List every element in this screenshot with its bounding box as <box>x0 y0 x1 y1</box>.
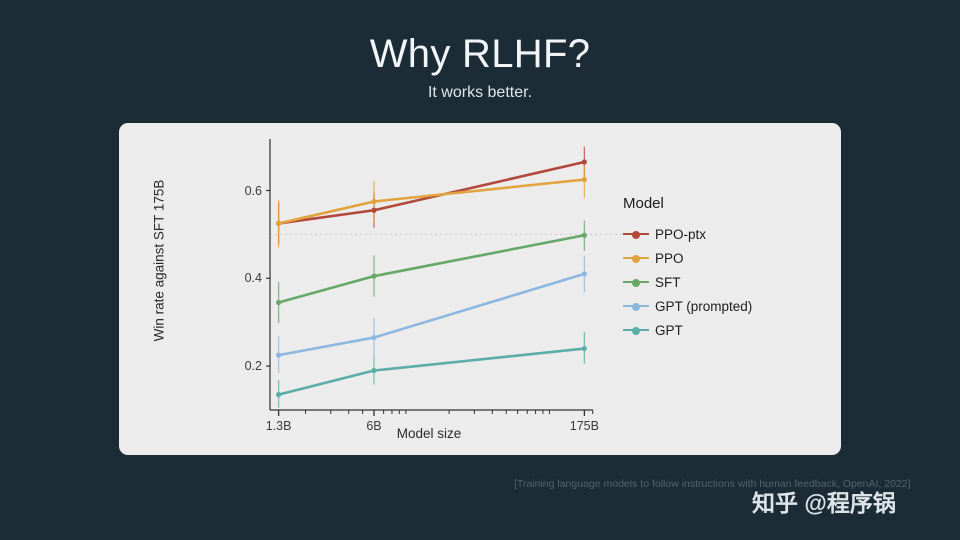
legend-swatch-icon <box>623 323 649 337</box>
chart-legend: Model PPO-ptxPPOSFTGPT (prompted)GPT <box>623 195 752 342</box>
legend-swatch-icon <box>623 251 649 265</box>
legend-item-label: GPT (prompted) <box>655 299 752 314</box>
legend-item-label: SFT <box>655 275 681 290</box>
legend-item-label: GPT <box>655 323 683 338</box>
x-tick-label: 1.3B <box>266 419 292 433</box>
y-tick-label: 0.4 <box>245 271 262 285</box>
legend-item-gpt-prompted[interactable]: GPT (prompted) <box>623 294 752 318</box>
x-tick-label: 6B <box>366 419 381 433</box>
legend-swatch-icon <box>623 299 649 313</box>
legend-item-label: PPO <box>655 251 684 266</box>
legend-swatch-icon <box>623 275 649 289</box>
y-tick-label: 0.6 <box>245 184 262 198</box>
legend-items: PPO-ptxPPOSFTGPT (prompted)GPT <box>623 222 752 342</box>
legend-item-ppo-ptx[interactable]: PPO-ptx <box>623 222 752 246</box>
legend-title: Model <box>623 195 752 212</box>
x-axis-label: Model size <box>259 426 599 441</box>
page-subtitle: It works better. <box>0 84 960 102</box>
watermark: 知乎 @程序锅 <box>752 484 896 518</box>
slide: Why RLHF? It works better. Win rate agai… <box>0 0 960 540</box>
y-axis-label: Win rate against SFT 175B <box>152 151 167 371</box>
legend-item-gpt[interactable]: GPT <box>623 318 752 342</box>
legend-item-label: PPO-ptx <box>655 227 706 242</box>
legend-item-sft[interactable]: SFT <box>623 270 752 294</box>
y-tick-label: 0.2 <box>245 359 262 373</box>
chart-card: Win rate against SFT 175B Model size 0.2… <box>119 123 841 455</box>
legend-item-ppo[interactable]: PPO <box>623 246 752 270</box>
x-tick-label: 175B <box>570 419 599 433</box>
page-title: Why RLHF? <box>0 32 960 77</box>
legend-swatch-icon <box>623 227 649 241</box>
